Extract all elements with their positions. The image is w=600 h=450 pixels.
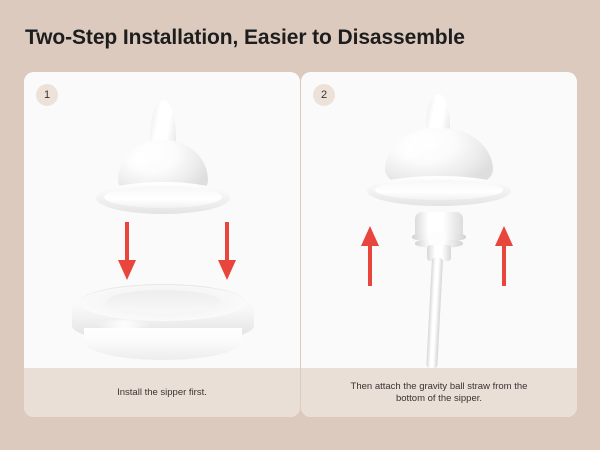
page-title: Two-Step Installation, Easier to Disasse… [25, 26, 465, 50]
step-panel-1: 1 [24, 72, 300, 417]
collar-ring-1 [70, 284, 256, 362]
step-2-caption-text: Then attach the gravity ball straw from … [351, 381, 528, 405]
collar-skirt [84, 328, 242, 360]
assembled-sipper-2 [363, 94, 515, 216]
arrow-up-right-icon [491, 224, 517, 286]
sipper-collar-rim-inner [375, 180, 503, 200]
product-infographic: Two-Step Installation, Easier to Disasse… [0, 0, 600, 450]
step-1-illustration [24, 72, 300, 368]
step-badge-2: 2 [313, 84, 335, 106]
arrow-down-left-icon [114, 222, 140, 282]
step-1-caption-text: Install the sipper first. [117, 387, 207, 399]
arrow-down-right-icon [214, 222, 240, 282]
straw-tube [426, 258, 443, 368]
step-panel-2: 2 [301, 72, 577, 417]
arrow-up-left-icon [357, 224, 383, 286]
collar-opening [106, 290, 220, 313]
gravity-ball-straw-2 [397, 212, 481, 368]
step-1-caption: Install the sipper first. [24, 368, 300, 417]
collar-highlight-icon [96, 320, 152, 330]
step-2-illustration [301, 72, 577, 368]
step-badge-1: 1 [36, 84, 58, 106]
nipple-flange-inner [104, 186, 222, 208]
step-2-caption: Then attach the gravity ball straw from … [301, 368, 577, 417]
sipper-nipple-1 [92, 100, 232, 225]
